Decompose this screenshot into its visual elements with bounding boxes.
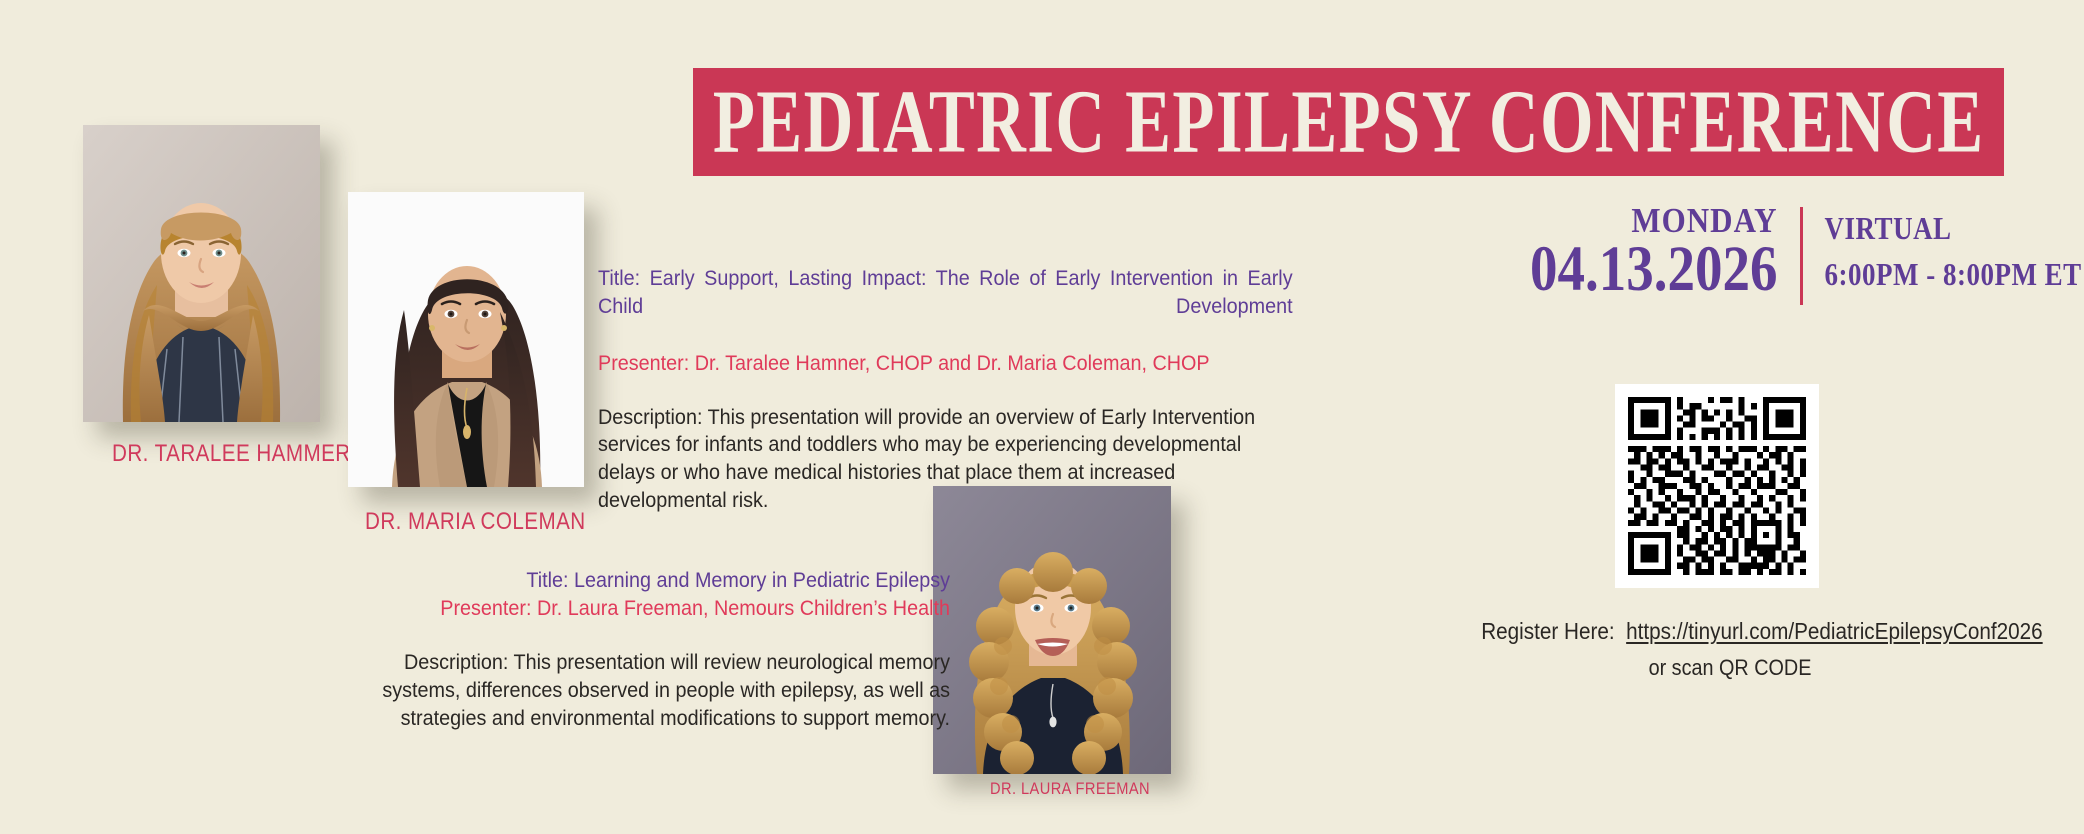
speaker-caption-freeman: DR. LAURA FREEMAN [990,779,1150,799]
event-date-group: MONDAY 04.13.2026 [1530,205,1800,305]
qr-code-icon [1628,397,1806,575]
portrait-illustration [348,192,584,487]
session-one-presenter: Presenter: Dr. Taralee Hamner, CHOP and … [598,349,1293,377]
event-details: MONDAY 04.13.2026 VIRTUAL 6:00PM - 8:00P… [1530,205,2082,305]
portrait-illustration [933,486,1171,774]
registration-url[interactable]: https://tinyurl.com/PediatricEpilepsyCon… [1626,618,2043,644]
session-one-title: Title: Early Support, Lasting Impact: Th… [598,264,1293,349]
event-time: 6:00PM - 8:00PM ET [1825,258,2082,293]
event-venue-group: VIRTUAL 6:00PM - 8:00PM ET [1803,205,2082,305]
session-two-presenter: Presenter: Dr. Laura Freeman, Nemours Ch… [380,594,950,622]
register-alt: or scan QR CODE [1478,654,1982,683]
event-date: 04.13.2026 [1530,235,1778,303]
portrait-illustration [83,125,320,422]
page-title: PEDIATRIC EPILEPSY CONFERENCE [713,77,1985,167]
qr-code[interactable] [1615,384,1819,588]
session-two-description: Description: This presentation will revi… [380,649,950,733]
session-one-description: Description: This presentation will prov… [598,404,1293,516]
session-two-title: Title: Learning and Memory in Pediatric … [380,566,950,594]
speaker-caption-coleman: DR. MARIA COLEMAN [365,508,586,536]
title-banner: PEDIATRIC EPILEPSY CONFERENCE [693,68,2004,176]
speaker-photo-hammer [83,125,320,422]
session-block-one: Title: Early Support, Lasting Impact: Th… [598,264,1353,515]
speaker-photo-freeman [933,486,1171,774]
event-mode: VIRTUAL [1825,212,2082,247]
session-block-two: Title: Learning and Memory in Pediatric … [330,566,950,733]
register-line: Register Here: https://tinyurl.com/Pedia… [1481,617,2042,647]
register-label: Register Here: [1481,618,1614,644]
speaker-caption-hammer: DR. TARALEE HAMMER [112,440,351,468]
conference-flyer: PEDIATRIC EPILEPSY CONFERENCE MONDAY 04.… [0,0,2084,834]
speaker-photo-coleman [348,192,584,487]
registration-block: Register Here: https://tinyurl.com/Pedia… [1450,617,2010,682]
